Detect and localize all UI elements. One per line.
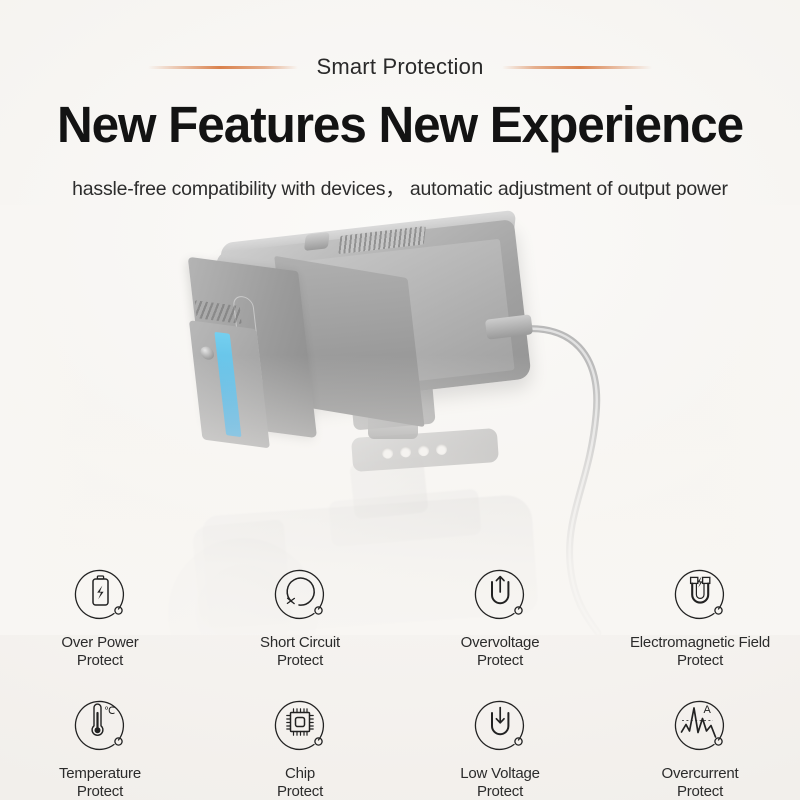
- feature-label-line2: Protect: [461, 652, 540, 670]
- feature-label-line2: Protect: [630, 652, 770, 670]
- feature-label-line2: Protect: [59, 783, 141, 800]
- feature-label-line1: Short Circuit: [260, 634, 340, 651]
- feature-temperature[interactable]: ℃ Temperature Protect: [0, 687, 200, 800]
- feature-over-power[interactable]: Over Power Protect: [0, 556, 200, 671]
- feature-list: Over Power Protect Short Circuit Prote: [0, 556, 800, 800]
- feature-label-line1: Chip: [285, 765, 315, 782]
- voltage-up-icon: [463, 556, 537, 630]
- eyebrow-row: Smart Protection: [0, 52, 800, 82]
- feature-overvoltage[interactable]: Overvoltage Protect: [400, 556, 600, 671]
- feature-label-line1: Low Voltage: [460, 765, 540, 782]
- current-waveform-icon: A: [663, 687, 737, 761]
- chip-icon: [263, 687, 337, 761]
- feature-label-line2: Protect: [277, 783, 323, 800]
- temperature-unit-label: ℃: [104, 706, 115, 717]
- feature-short-circuit[interactable]: Short Circuit Protect: [200, 556, 400, 671]
- feature-label-line1: Over Power: [61, 634, 138, 651]
- promo-page: Smart Protection New Features New Experi…: [0, 0, 800, 800]
- feature-caption: Overcurrent Protect: [662, 765, 739, 800]
- feature-caption: Low Voltage Protect: [460, 765, 540, 800]
- feature-chip[interactable]: Chip Protect: [200, 687, 400, 800]
- feature-row-2: ℃ Temperature Protect: [0, 687, 800, 800]
- ampere-unit-label: A: [704, 704, 712, 716]
- feature-label-line2: Protect: [460, 783, 540, 800]
- feature-label-line1: Electromagnetic Field: [630, 634, 770, 651]
- feature-caption: Electromagnetic Field Protect: [630, 634, 770, 671]
- feature-label-line1: Temperature: [59, 765, 141, 782]
- feature-label-line1: Overvoltage: [461, 634, 540, 651]
- feature-low-voltage[interactable]: Low Voltage Protect: [400, 687, 600, 800]
- feature-caption: Short Circuit Protect: [260, 634, 340, 671]
- battery-bolt-icon: [63, 556, 137, 630]
- page-title: New Features New Experience: [12, 97, 788, 152]
- feature-label-line1: Overcurrent: [662, 765, 739, 782]
- divider-line-left: [148, 66, 298, 69]
- eyebrow-text: Smart Protection: [316, 54, 483, 80]
- magnet-bolt-icon: [663, 556, 737, 630]
- feature-caption: Temperature Protect: [59, 765, 141, 800]
- feature-row-1: Over Power Protect Short Circuit Prote: [0, 556, 800, 671]
- feature-label-line2: Protect: [260, 652, 340, 670]
- feature-caption: Over Power Protect: [61, 634, 138, 671]
- voltage-down-icon: [463, 687, 537, 761]
- feature-caption: Overvoltage Protect: [461, 634, 540, 671]
- broken-circuit-icon: [263, 556, 337, 630]
- divider-line-right: [502, 66, 652, 69]
- feature-label-line2: Protect: [61, 652, 138, 670]
- feature-electromagnetic-field[interactable]: Electromagnetic Field Protect: [600, 556, 800, 671]
- thermometer-icon: ℃: [63, 687, 137, 761]
- feature-label-line2: Protect: [662, 783, 739, 800]
- feature-overcurrent[interactable]: A Overcurrent Protect: [600, 687, 800, 800]
- page-subtitle: hassle-free compatibility with devices， …: [0, 172, 800, 201]
- feature-caption: Chip Protect: [277, 765, 323, 800]
